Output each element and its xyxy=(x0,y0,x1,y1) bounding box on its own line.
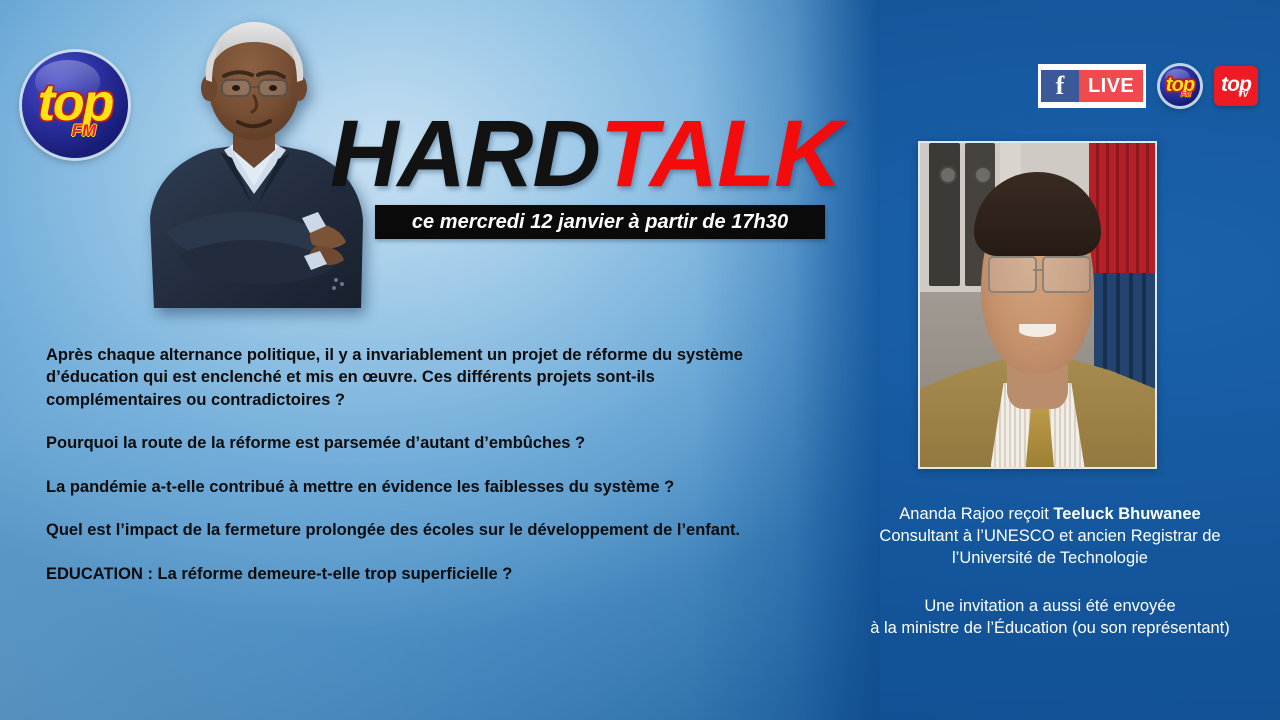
invitation-line-2: à la ministre de l’Éducation (ou son rep… xyxy=(830,617,1270,639)
question-item: La pandémie a-t-elle contribué à mettre … xyxy=(46,476,786,498)
airtime-text: ce mercredi 12 janvier à partir de 17h30 xyxy=(412,211,788,234)
guest-glasses-left xyxy=(988,256,1037,292)
question-list: Après chaque alternance politique, il y … xyxy=(46,344,786,585)
binder-ring xyxy=(974,166,992,184)
invitation-note: Une invitation a aussi été envoyée à la … xyxy=(830,595,1270,639)
question-item: Quel est l’impact de la fermeture prolon… xyxy=(46,519,786,541)
guest-role-line-2: l’Université de Technologie xyxy=(830,547,1270,569)
invitation-line-1: Une invitation a aussi été envoyée xyxy=(830,595,1270,617)
binder-dark xyxy=(929,143,960,286)
top-fm-logo-sub: FM xyxy=(72,122,97,139)
guest-caption: Ananda Rajoo reçoit Teeluck Bhuwanee Con… xyxy=(830,503,1270,640)
live-label: LIVE xyxy=(1079,70,1143,102)
facebook-f-icon: f xyxy=(1041,70,1079,102)
promo-graphic-canvas: top FM xyxy=(0,0,1280,720)
guest-intro-line: Ananda Rajoo reçoit Teeluck Bhuwanee xyxy=(830,503,1270,525)
top-fm-badge-sub: FM xyxy=(1181,92,1191,99)
airtime-banner: ce mercredi 12 janvier à partir de 17h30 xyxy=(375,205,825,239)
top-fm-badge-icon[interactable]: top FM xyxy=(1160,66,1200,106)
question-item: Après chaque alternance politique, il y … xyxy=(46,344,786,411)
guest-portrait-photo xyxy=(918,141,1157,469)
guest-role-line-1: Consultant à l’UNESCO et ancien Registra… xyxy=(830,525,1270,547)
question-item: EDUCATION : La réforme demeure-t-elle tr… xyxy=(46,563,786,585)
guest-name: Teeluck Bhuwanee xyxy=(1053,505,1200,523)
show-title-talk: TALK xyxy=(600,101,842,207)
broadcast-badges: f LIVE top FM top TV xyxy=(1038,64,1258,108)
question-item: Pourquoi la route de la réforme est pars… xyxy=(46,432,786,454)
binder-ring xyxy=(939,166,957,184)
facebook-live-badge[interactable]: f LIVE xyxy=(1038,64,1146,108)
top-tv-badge-sub: TV xyxy=(1238,91,1248,99)
top-fm-logo-icon: top FM xyxy=(22,52,128,158)
guest-glasses-bridge xyxy=(1033,269,1042,271)
guest-glasses-right xyxy=(1042,256,1091,292)
show-title: HARDTALK xyxy=(330,107,842,202)
show-title-hard: HARD xyxy=(330,101,600,207)
host-intro-prefix: Ananda Rajoo reçoit xyxy=(899,505,1053,523)
top-tv-badge-icon[interactable]: top TV xyxy=(1214,66,1258,106)
